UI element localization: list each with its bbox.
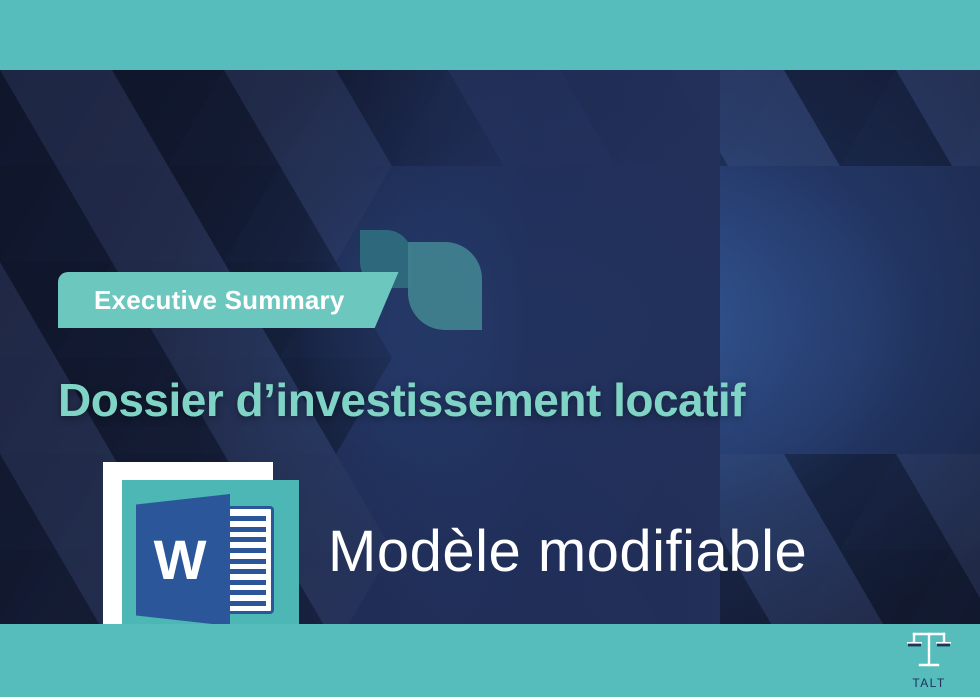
triangle-shape (448, 70, 560, 166)
leaf-shape-large (408, 242, 482, 330)
triangle-shape (336, 70, 448, 166)
triangle-shape (0, 550, 56, 624)
brand-logo: TALT (898, 631, 960, 689)
word-blue-panel: W (136, 494, 230, 624)
triangle-shape (896, 550, 980, 624)
triangle-shape (56, 166, 168, 262)
triangle-shape (952, 454, 980, 550)
triangle-shape (616, 70, 728, 166)
triangle-shape (0, 70, 56, 166)
triangle-shape (392, 70, 504, 166)
triangle-shape (840, 454, 952, 550)
triangle-shape (168, 166, 280, 262)
triangle-shape (560, 70, 672, 166)
triangle-shape (0, 166, 56, 262)
triangle-shape (280, 70, 392, 166)
triangle-shape (784, 70, 896, 166)
triangle-shape (0, 358, 56, 454)
triangle-shape (56, 70, 168, 166)
bottom-accent-band (0, 624, 980, 697)
triangle-shape (224, 166, 336, 262)
microsoft-word-icon: W (103, 462, 299, 624)
word-logo-mark: W (122, 480, 299, 624)
triangle-shape (112, 70, 224, 166)
triangle-shape (952, 70, 980, 166)
triangle-shape (504, 70, 616, 166)
triangle-shape (896, 70, 980, 166)
brand-name: TALT (912, 676, 945, 690)
word-letter-w: W (154, 532, 207, 588)
triangle-shape (672, 70, 784, 166)
triangle-shape (168, 70, 280, 166)
triangle-shape (0, 262, 56, 358)
triangle-shape (0, 166, 112, 262)
scales-of-justice-icon (906, 631, 952, 674)
triangle-shape (896, 454, 980, 550)
page-title: Dossier d’investissement locatif (58, 373, 745, 427)
slide-canvas: Executive Summary Dossier d’investisseme… (0, 0, 980, 697)
triangle-shape (112, 166, 224, 262)
triangle-shape (0, 550, 112, 624)
triangle-shape (0, 454, 56, 550)
triangle-shape (952, 550, 980, 624)
triangle-shape (840, 550, 952, 624)
triangle-shape (0, 454, 112, 550)
slide-background: Executive Summary Dossier d’investisseme… (0, 70, 980, 624)
triangle-shape (0, 70, 112, 166)
triangle-shape (728, 70, 840, 166)
page-subtitle: Modèle modifiable (328, 518, 807, 585)
triangle-shape (224, 70, 336, 166)
triangle-shape (840, 70, 952, 166)
top-accent-band (0, 0, 980, 70)
executive-summary-badge: Executive Summary (58, 272, 399, 328)
badge-label: Executive Summary (94, 285, 345, 316)
